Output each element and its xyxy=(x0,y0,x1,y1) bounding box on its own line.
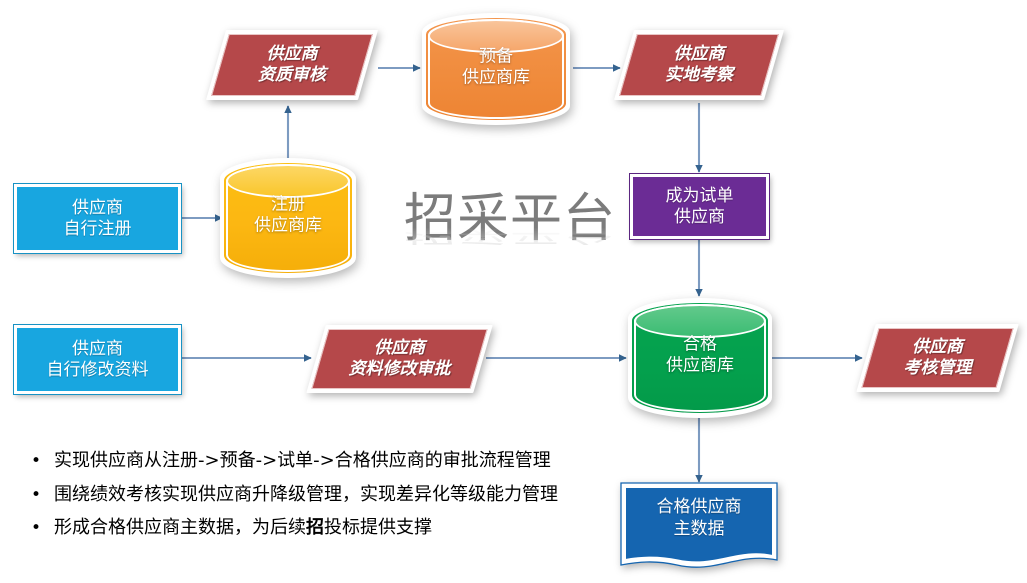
list-item: • 围绕绩效考核实现供应商升降级管理，实现差异化等级能力管理 xyxy=(22,486,622,505)
node-label: 注册 供应商库 xyxy=(220,195,356,237)
bullet-list: • 实现供应商从注册->预备->试单->合格供应商的审批流程管理 • 围绕绩效考… xyxy=(22,452,622,553)
node-prepare-supplier-db[interactable]: 预备 供应商库 xyxy=(422,13,570,125)
node-label: 供应商 考核管理 xyxy=(866,324,1009,392)
node-label: 合格 供应商库 xyxy=(628,335,772,377)
node-qualification-review[interactable]: 供应商 资质审核 xyxy=(216,30,368,100)
cylinder-top-ellipse xyxy=(226,164,350,198)
node-label: 供应商 资质审核 xyxy=(216,30,368,100)
node-label: 供应商 自行修改资料 xyxy=(47,339,149,380)
bullet-text: 围绕绩效考核实现供应商升降级管理，实现差异化等级能力管理 xyxy=(54,486,622,504)
node-label: 成为试单 供应商 xyxy=(666,186,734,227)
list-item: • 实现供应商从注册->预备->试单->合格供应商的审批流程管理 xyxy=(22,452,622,471)
node-label: 供应商 资料修改审批 xyxy=(316,325,483,393)
node-label: 预备 供应商库 xyxy=(422,46,570,88)
bullet-text: 实现供应商从注册->预备->试单->合格供应商的审批流程管理 xyxy=(54,452,622,470)
node-assessment-management[interactable]: 供应商 考核管理 xyxy=(866,324,1009,392)
node-label: 供应商 实地考察 xyxy=(624,30,774,100)
bullet-marker: • xyxy=(22,519,54,538)
node-trial-order-supplier[interactable]: 成为试单 供应商 xyxy=(630,174,769,239)
diagram-canvas: 招采平台 招采平台 xyxy=(0,0,1027,583)
bullet-marker: • xyxy=(22,452,54,471)
node-label: 合格供应商 主数据 xyxy=(620,496,778,540)
watermark-reflection: 招采平台 xyxy=(404,223,616,245)
list-item: • 形成合格供应商主数据，为后续招投标提供支撑 xyxy=(22,519,622,538)
node-label: 供应商 自行注册 xyxy=(64,198,132,239)
bullet-marker: • xyxy=(22,486,54,505)
node-onsite-inspection[interactable]: 供应商 实地考察 xyxy=(624,30,774,100)
node-supplier-self-register[interactable]: 供应商 自行注册 xyxy=(14,184,181,253)
node-supplier-modify-data[interactable]: 供应商 自行修改资料 xyxy=(14,325,181,394)
node-qualified-supplier-db[interactable]: 合格 供应商库 xyxy=(628,298,772,418)
cylinder-top-ellipse xyxy=(634,304,766,338)
node-register-supplier-db[interactable]: 注册 供应商库 xyxy=(220,158,356,278)
node-data-change-approval[interactable]: 供应商 资料修改审批 xyxy=(316,325,483,393)
node-qualified-master-data[interactable]: 合格供应商 主数据 xyxy=(620,482,778,570)
bullet-text: 形成合格供应商主数据，为后续招投标提供支撑 xyxy=(54,519,622,537)
